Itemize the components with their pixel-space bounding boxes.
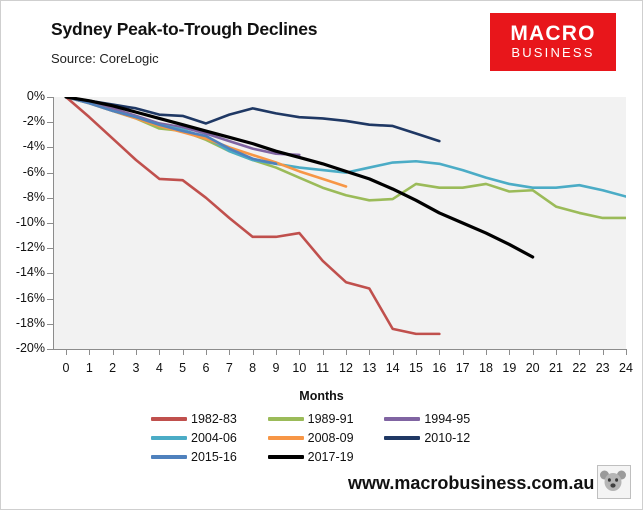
y-axis-tick-label: -10%	[16, 215, 45, 229]
legend-label: 2010-12	[424, 431, 470, 445]
x-axis-tick	[579, 349, 580, 355]
x-axis-tick-label: 4	[147, 361, 171, 375]
x-axis-tick	[136, 349, 137, 355]
x-axis-tick	[556, 349, 557, 355]
x-axis-tick	[509, 349, 510, 355]
legend-item-1994-95[interactable]: 1994-95	[384, 412, 501, 426]
legend-item-2015-16[interactable]: 2015-16	[151, 450, 268, 464]
y-axis-tick-label: -16%	[16, 291, 45, 305]
x-axis-tick	[393, 349, 394, 355]
x-axis-tick	[113, 349, 114, 355]
x-axis-tick-label: 20	[521, 361, 545, 375]
legend-swatch-icon	[268, 417, 304, 421]
legend-label: 2008-09	[308, 431, 354, 445]
x-axis-tick	[183, 349, 184, 355]
y-axis-tick	[47, 299, 54, 300]
chart-series-lines	[53, 97, 626, 349]
y-axis-tick-label: -4%	[23, 139, 45, 153]
chart-frame: Sydney Peak-to-Trough Declines Source: C…	[0, 0, 643, 510]
macrobusiness-logo: MACRO BUSINESS	[490, 13, 616, 71]
y-axis-tick	[47, 223, 54, 224]
x-axis-tick	[323, 349, 324, 355]
y-axis-tick-label: -8%	[23, 190, 45, 204]
x-axis-tick-label: 17	[451, 361, 475, 375]
x-axis-tick	[626, 349, 627, 355]
x-axis-tick	[206, 349, 207, 355]
x-axis-tick	[533, 349, 534, 355]
logo-line-macro: MACRO	[510, 23, 595, 45]
y-axis-tick	[47, 97, 54, 98]
y-axis-tick	[47, 324, 54, 325]
y-axis-tick-label: -18%	[16, 316, 45, 330]
x-axis-tick	[159, 349, 160, 355]
legend-item-2004-06[interactable]: 2004-06	[151, 431, 268, 445]
x-axis-tick-label: 16	[427, 361, 451, 375]
chart-source-label: Source: CoreLogic	[51, 51, 159, 66]
y-axis-tick	[47, 173, 54, 174]
x-axis-tick-label: 6	[194, 361, 218, 375]
x-axis-tick-label: 7	[217, 361, 241, 375]
x-axis-tick-label: 21	[544, 361, 568, 375]
x-axis-tick	[416, 349, 417, 355]
x-axis-tick-label: 15	[404, 361, 428, 375]
legend-label: 2015-16	[191, 450, 237, 464]
x-axis-title: Months	[1, 389, 642, 403]
chart-legend: 1982-831989-911994-952004-062008-092010-…	[151, 409, 501, 466]
legend-item-1982-83[interactable]: 1982-83	[151, 412, 268, 426]
y-axis-tick-label: -2%	[23, 114, 45, 128]
x-axis-tick-label: 0	[54, 361, 78, 375]
legend-item-2008-09[interactable]: 2008-09	[268, 431, 385, 445]
legend-label: 1982-83	[191, 412, 237, 426]
y-axis-tick-label: -14%	[16, 265, 45, 279]
legend-swatch-icon	[268, 455, 304, 459]
x-axis-tick-label: 14	[381, 361, 405, 375]
legend-label: 2004-06	[191, 431, 237, 445]
x-axis-tick	[229, 349, 230, 355]
x-axis-tick	[276, 349, 277, 355]
y-axis-tick-label: -12%	[16, 240, 45, 254]
x-axis-tick-label: 3	[124, 361, 148, 375]
series-line-1982-83	[66, 97, 439, 334]
y-axis-tick	[47, 349, 54, 350]
x-axis-tick-label: 18	[474, 361, 498, 375]
koala-icon	[597, 465, 631, 499]
legend-swatch-icon	[384, 417, 420, 421]
x-axis-tick-label: 12	[334, 361, 358, 375]
y-axis-tick-label: 0%	[27, 89, 45, 103]
x-axis-tick-label: 13	[357, 361, 381, 375]
x-axis-tick-label: 11	[311, 361, 335, 375]
x-axis-line	[53, 349, 626, 350]
legend-label: 1994-95	[424, 412, 470, 426]
legend-swatch-icon	[151, 455, 187, 459]
x-axis-tick	[66, 349, 67, 355]
x-axis-tick	[486, 349, 487, 355]
x-axis-tick-label: 1	[77, 361, 101, 375]
x-axis-tick	[253, 349, 254, 355]
legend-swatch-icon	[151, 417, 187, 421]
x-axis-tick-label: 8	[241, 361, 265, 375]
y-axis-labels: 0%-2%-4%-6%-8%-10%-12%-14%-16%-18%-20%	[1, 1, 45, 511]
x-axis-tick-label: 19	[497, 361, 521, 375]
series-line-2010-12	[66, 97, 439, 141]
legend-swatch-icon	[151, 436, 187, 440]
x-axis-tick-label: 5	[171, 361, 195, 375]
x-axis-tick	[603, 349, 604, 355]
y-axis-tick	[47, 198, 54, 199]
y-axis-tick	[47, 248, 54, 249]
y-axis-tick	[47, 147, 54, 148]
page-title: Sydney Peak-to-Trough Declines	[51, 19, 317, 40]
website-label: www.macrobusiness.com.au	[348, 473, 594, 494]
x-axis-tick	[346, 349, 347, 355]
legend-swatch-icon	[268, 436, 304, 440]
x-axis-tick-label: 9	[264, 361, 288, 375]
x-axis-tick	[369, 349, 370, 355]
legend-swatch-icon	[384, 436, 420, 440]
x-axis-tick	[463, 349, 464, 355]
y-axis-tick	[47, 122, 54, 123]
y-axis-tick-label: -6%	[23, 165, 45, 179]
x-axis-tick-label: 24	[614, 361, 638, 375]
x-axis-tick-label: 10	[287, 361, 311, 375]
x-axis-tick	[89, 349, 90, 355]
y-axis-tick	[47, 273, 54, 274]
x-axis-tick-label: 23	[591, 361, 615, 375]
x-axis-tick	[299, 349, 300, 355]
legend-label: 2017-19	[308, 450, 354, 464]
legend-item-1989-91[interactable]: 1989-91	[268, 412, 385, 426]
legend-item-2017-19[interactable]: 2017-19	[268, 450, 385, 464]
y-axis-tick-label: -20%	[16, 341, 45, 355]
x-axis-tick	[439, 349, 440, 355]
x-axis-tick-label: 22	[567, 361, 591, 375]
x-axis-tick-label: 2	[101, 361, 125, 375]
legend-item-2010-12[interactable]: 2010-12	[384, 431, 501, 445]
logo-line-business: BUSINESS	[511, 45, 594, 61]
legend-label: 1989-91	[308, 412, 354, 426]
